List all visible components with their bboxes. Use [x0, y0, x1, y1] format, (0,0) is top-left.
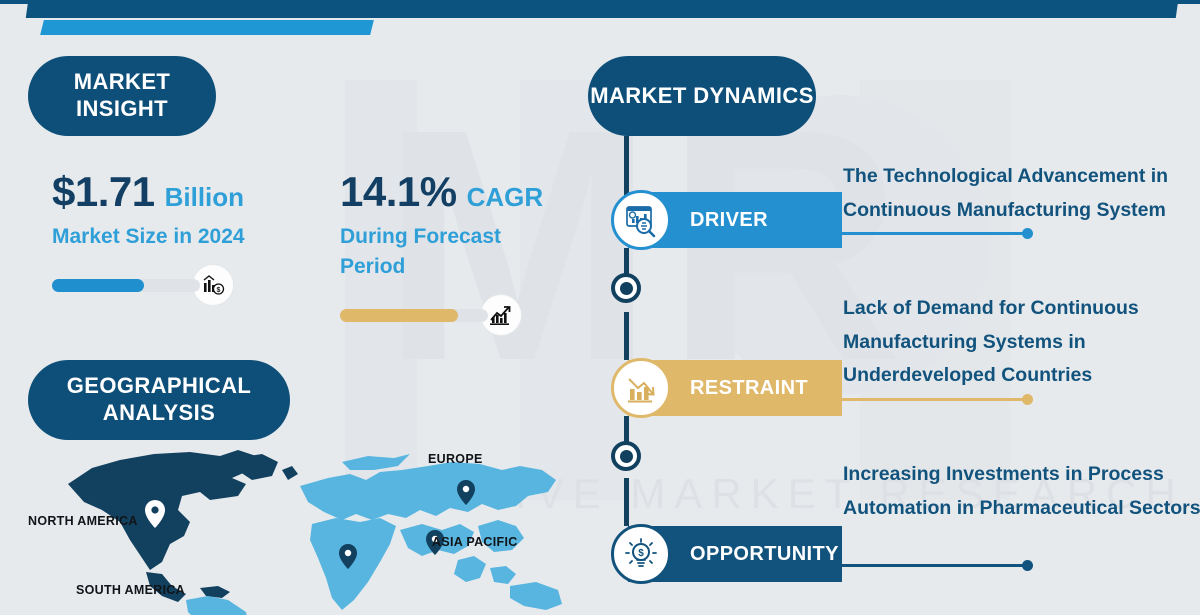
restraint-description: Lack of Demand for Continuous Manufactur…: [843, 292, 1200, 393]
restraint-label: RESTRAINT: [690, 377, 808, 400]
market-insight-heading: MARKET INSIGHT: [28, 56, 216, 136]
header-bar-light: [40, 20, 374, 35]
timeline-node-dot: [611, 273, 641, 303]
timeline-node-dot: [611, 441, 641, 471]
timeline-spine: [624, 136, 629, 198]
map-label-north-america: NORTH AMERICA: [28, 514, 138, 528]
market-size-progress: $: [52, 264, 252, 306]
geographical-analysis-heading: GEOGRAPHICAL ANALYSIS: [28, 360, 290, 440]
market-insight-heading-label: MARKET INSIGHT: [28, 69, 216, 123]
market-dynamics-heading: MARKET DYNAMICS: [588, 56, 816, 136]
stat-market-size-value: $1.71: [52, 168, 155, 216]
opportunity-connector-dot: [1022, 560, 1033, 571]
opportunity-connector: [828, 564, 1028, 567]
header-bar-dark: [26, 0, 1180, 18]
stat-cagr: 14.1% CAGR During Forecast Period: [340, 168, 580, 283]
stat-cagr-row: 14.1% CAGR: [340, 168, 580, 216]
cagr-progress: [340, 294, 540, 336]
opportunity-label: OPPORTUNITY: [690, 543, 839, 566]
lightbulb-dollar-icon: $: [611, 524, 671, 584]
stat-cagr-value: 14.1%: [340, 168, 457, 216]
opportunity-description: Increasing Investments in Process Automa…: [843, 458, 1200, 525]
geographical-analysis-heading-label: GEOGRAPHICAL ANALYSIS: [28, 373, 290, 427]
report-magnifier-icon: [611, 190, 671, 250]
map-label-asia-pacific: ASIA PACIFIC: [432, 535, 518, 549]
market-size-progress-fill: [52, 279, 144, 292]
svg-text:$: $: [217, 287, 221, 294]
stat-market-size: $1.71 Billion Market Size in 2024: [52, 168, 322, 252]
declining-chart-icon: [611, 358, 671, 418]
stat-cagr-unit: CAGR: [467, 182, 544, 213]
stat-cagr-label: During Forecast Period: [340, 222, 555, 283]
driver-label: DRIVER: [690, 209, 768, 232]
map-region-south-america: [186, 596, 250, 615]
stat-market-size-row: $1.71 Billion: [52, 168, 322, 216]
driver-connector: [828, 232, 1028, 235]
restraint-connector-dot: [1022, 394, 1033, 405]
restraint-connector: [828, 398, 1028, 401]
stat-market-size-unit: Billion: [165, 182, 244, 213]
map-label-europe: EUROPE: [428, 452, 483, 466]
market-dynamics-heading-label: MARKET DYNAMICS: [590, 83, 814, 110]
map-label-south-america: SOUTH AMERICA: [76, 583, 185, 597]
cagr-progress-track: [340, 309, 488, 322]
driver-description: The Technological Advancement in Continu…: [843, 160, 1200, 227]
timeline-spine: [624, 478, 629, 526]
svg-text:$: $: [638, 548, 644, 559]
stat-market-size-label: Market Size in 2024: [52, 222, 267, 252]
market-size-progress-track: [52, 279, 200, 292]
cagr-progress-fill: [340, 309, 458, 322]
driver-connector-dot: [1022, 228, 1033, 239]
timeline-spine: [624, 312, 629, 360]
